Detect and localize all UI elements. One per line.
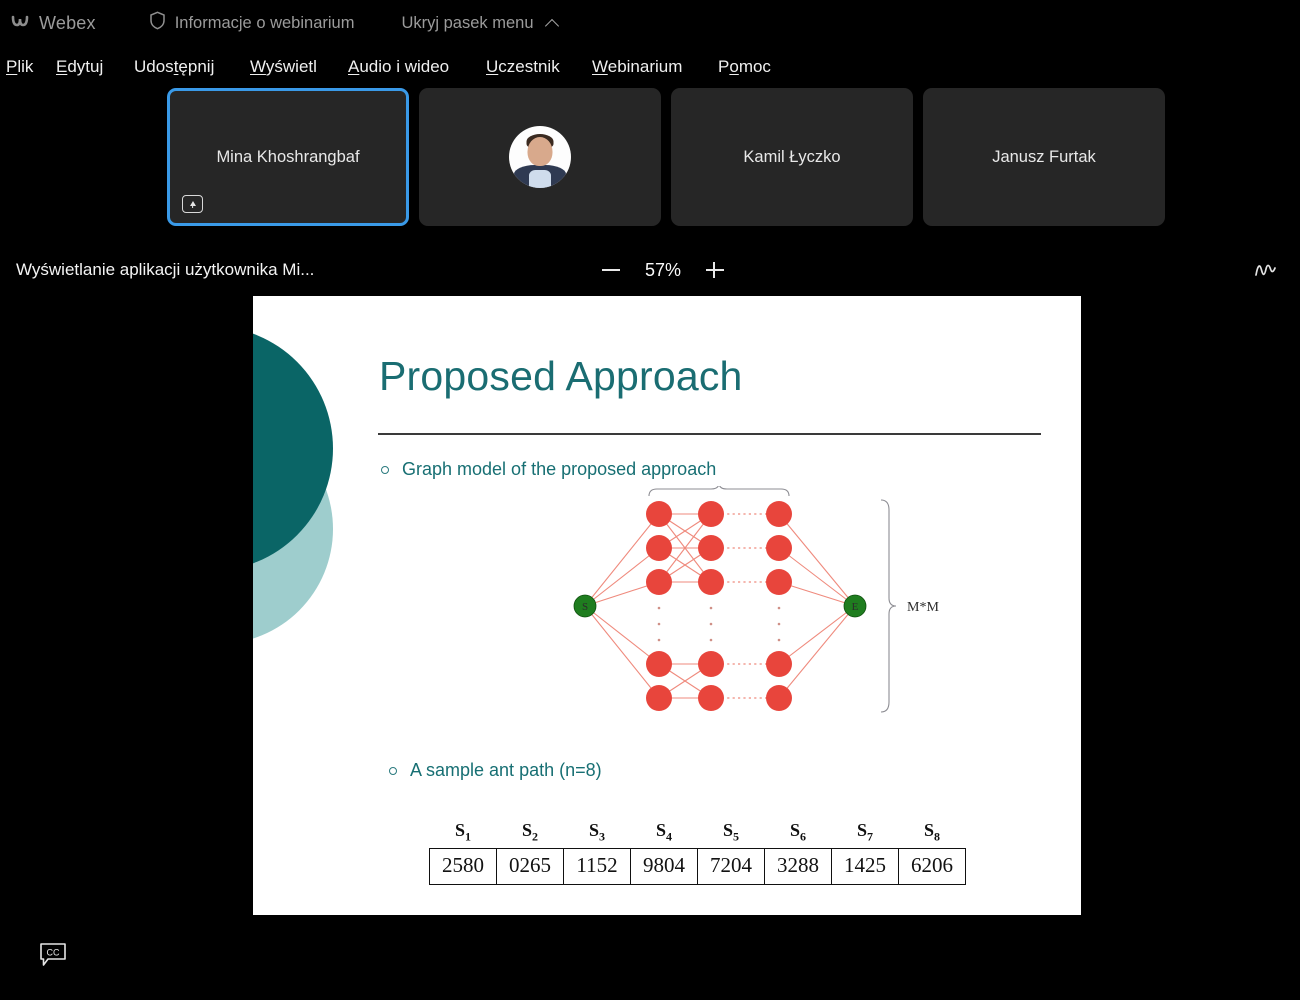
menu-item-audio-i-wideo[interactable]: Audio i wideo — [348, 55, 449, 79]
screen-share-status-text: Wyświetlanie aplikacji użytkownika Mi... — [16, 260, 314, 280]
menu-item-edytuj[interactable]: Edytuj — [56, 55, 103, 79]
ant-path-header-6: S6 — [765, 820, 832, 848]
ant-path-header-sub: 2 — [532, 830, 538, 844]
ant-path-header-base: S — [790, 820, 800, 840]
menu-item-udost-pnij[interactable]: Udostępnij — [134, 55, 214, 79]
slide-bullet-1-text: Graph model of the proposed approach — [402, 459, 716, 480]
ant-path-header-sub: 7 — [867, 830, 873, 844]
ant-path-cell-6: 3288 — [765, 848, 832, 884]
screen-share-status-bar: Wyświetlanie aplikacji użytkownika Mi...… — [0, 248, 1300, 292]
menu-item-uczestnik[interactable]: Uczestnik — [486, 55, 560, 79]
webex-logo-icon — [10, 11, 30, 36]
meeting-control-bar: CC Wyłącz wyciszenie — [0, 915, 1300, 1000]
webinar-info-label: Informacje o webinarium — [175, 14, 355, 33]
zoom-in-button[interactable] — [704, 259, 726, 281]
menu-item-plik[interactable]: Plik — [6, 55, 33, 79]
participant-name: Kamil Łyczko — [735, 148, 848, 167]
webinar-info-button[interactable]: Informacje o webinarium — [149, 11, 355, 35]
ant-path-header-sub: 4 — [666, 830, 672, 844]
ant-path-table-header-row: S1S2S3S4S5S6S7S8 — [430, 820, 966, 848]
shared-slide-content: Proposed Approach Graph model of the pro… — [253, 296, 1081, 915]
hide-menu-bar-button[interactable]: Ukryj pasek menu — [401, 14, 560, 33]
avatar — [509, 126, 571, 188]
ant-path-header-sub: 1 — [465, 830, 471, 844]
ant-path-table-wrapper: S1S2S3S4S5S6S7S8 25800265115298047204328… — [429, 820, 966, 885]
annotate-scribble-icon[interactable] — [1252, 259, 1278, 281]
ant-path-header-base: S — [723, 820, 733, 840]
bullet-circle-icon — [389, 767, 397, 775]
ant-path-cell-8: 6206 — [899, 848, 966, 884]
ant-path-header-sub: 3 — [599, 830, 605, 844]
ant-path-header-sub: 5 — [733, 830, 739, 844]
slide-bullet-2-text: A sample ant path (n=8) — [410, 760, 602, 781]
ant-path-table-value-row: 25800265115298047204328814256206 — [430, 848, 966, 884]
ant-path-header-4: S4 — [631, 820, 698, 848]
zoom-controls: 57% — [600, 259, 726, 281]
ant-path-cell-1: 2580 — [430, 848, 497, 884]
webex-brand-label: Webex — [39, 13, 96, 34]
ant-path-header-base: S — [924, 820, 934, 840]
ant-path-cell-3: 1152 — [564, 848, 631, 884]
ant-path-header-8: S8 — [899, 820, 966, 848]
ant-path-header-7: S7 — [832, 820, 899, 848]
graph-model-svg: .ln { stroke:#ef8a7d; stroke-width:1.1; … — [563, 486, 963, 726]
menu-bar: PlikEdytujUdostępnijWyświetlAudio i wide… — [0, 50, 1300, 84]
ant-path-header-base: S — [857, 820, 867, 840]
ant-path-cell-5: 7204 — [698, 848, 765, 884]
menu-item-webinarium[interactable]: Webinarium — [592, 55, 682, 79]
zoom-out-button[interactable] — [600, 259, 622, 281]
ant-path-header-base: S — [522, 820, 532, 840]
participant-tile-3[interactable]: Kamil Łyczko — [671, 88, 913, 226]
ant-path-header-3: S3 — [564, 820, 631, 848]
menu-item-wy-wietl[interactable]: Wyświetl — [250, 55, 317, 79]
ant-path-header-2: S2 — [497, 820, 564, 848]
ant-path-cell-4: 9804 — [631, 848, 698, 884]
app-title-bar: Webex Informacje o webinarium Ukryj pase… — [0, 0, 1300, 46]
closed-caption-icon[interactable]: CC — [38, 942, 68, 968]
ant-path-table: S1S2S3S4S5S6S7S8 25800265115298047204328… — [429, 820, 966, 885]
ant-path-header-sub: 6 — [800, 830, 806, 844]
zoom-level-value: 57% — [640, 260, 686, 281]
shield-icon — [149, 11, 166, 35]
ant-path-cell-2: 0265 — [497, 848, 564, 884]
graph-end-node-label: E — [852, 601, 859, 613]
graph-model-diagram: .ln { stroke:#ef8a7d; stroke-width:1.1; … — [563, 486, 963, 726]
share-screen-icon — [182, 195, 203, 213]
slide-title: Proposed Approach — [379, 353, 743, 400]
participant-name: Janusz Furtak — [984, 148, 1104, 167]
slide-bullet-1: Graph model of the proposed approach — [381, 459, 716, 480]
ant-path-cell-7: 1425 — [832, 848, 899, 884]
webex-meeting-window: Webex Informacje o webinarium Ukryj pase… — [0, 0, 1300, 1000]
graph-right-brace-label: M*M — [907, 600, 939, 615]
participant-tile-4[interactable]: Janusz Furtak — [923, 88, 1165, 226]
bullet-circle-icon — [381, 466, 389, 474]
hide-menu-bar-label: Ukryj pasek menu — [401, 14, 533, 33]
ant-path-header-base: S — [656, 820, 666, 840]
webex-brand: Webex — [10, 11, 96, 36]
participant-name: Mina Khoshrangbaf — [208, 148, 367, 167]
participant-tile-strip: Mina KhoshrangbafKamil ŁyczkoJanusz Furt… — [0, 88, 1300, 228]
ant-path-header-sub: 8 — [934, 830, 940, 844]
participant-tile-2[interactable] — [419, 88, 661, 226]
participant-tile-1[interactable]: Mina Khoshrangbaf — [167, 88, 409, 226]
slide-bullet-2: A sample ant path (n=8) — [389, 760, 602, 781]
ant-path-header-5: S5 — [698, 820, 765, 848]
ant-path-header-base: S — [455, 820, 465, 840]
cc-label: CC — [47, 948, 60, 958]
graph-start-node-label: S — [582, 601, 588, 613]
menu-item-pomoc[interactable]: Pomoc — [718, 55, 771, 79]
ant-path-header-1: S1 — [430, 820, 497, 848]
slide-title-divider — [378, 433, 1041, 435]
ant-path-header-base: S — [589, 820, 599, 840]
chevron-up-icon — [546, 19, 561, 28]
